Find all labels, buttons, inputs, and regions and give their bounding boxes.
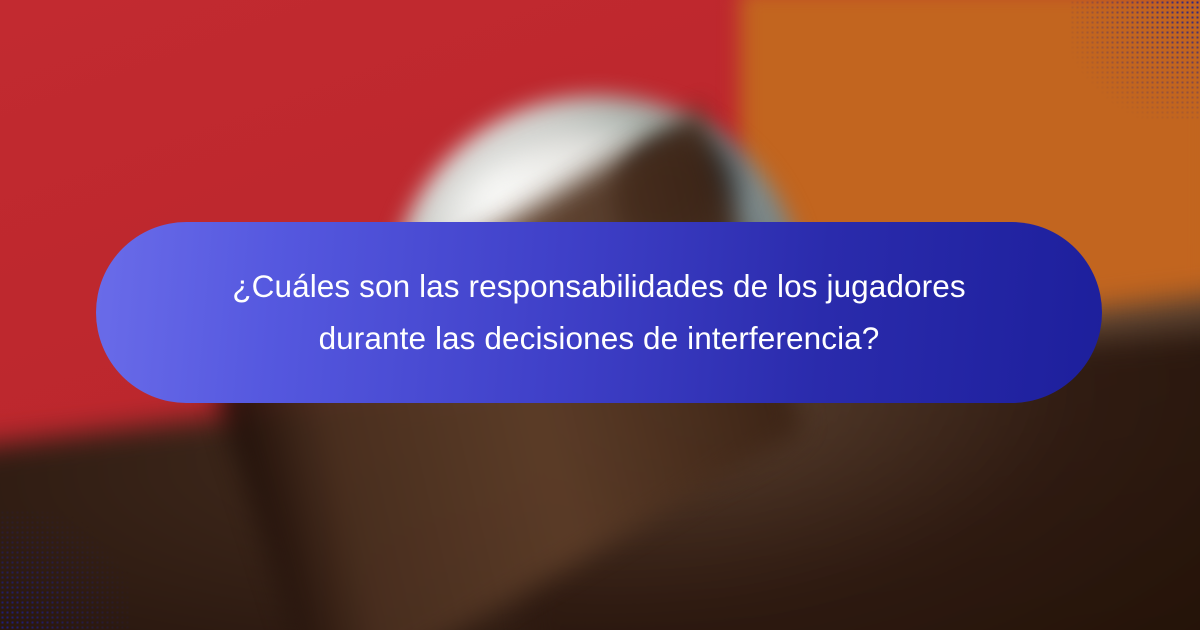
headline-question: ¿Cuáles son las responsabilidades de los… [219,261,979,363]
social-share-card: ¿Cuáles son las responsabilidades de los… [0,0,1200,630]
headline-pill: ¿Cuáles son las responsabilidades de los… [96,222,1102,403]
